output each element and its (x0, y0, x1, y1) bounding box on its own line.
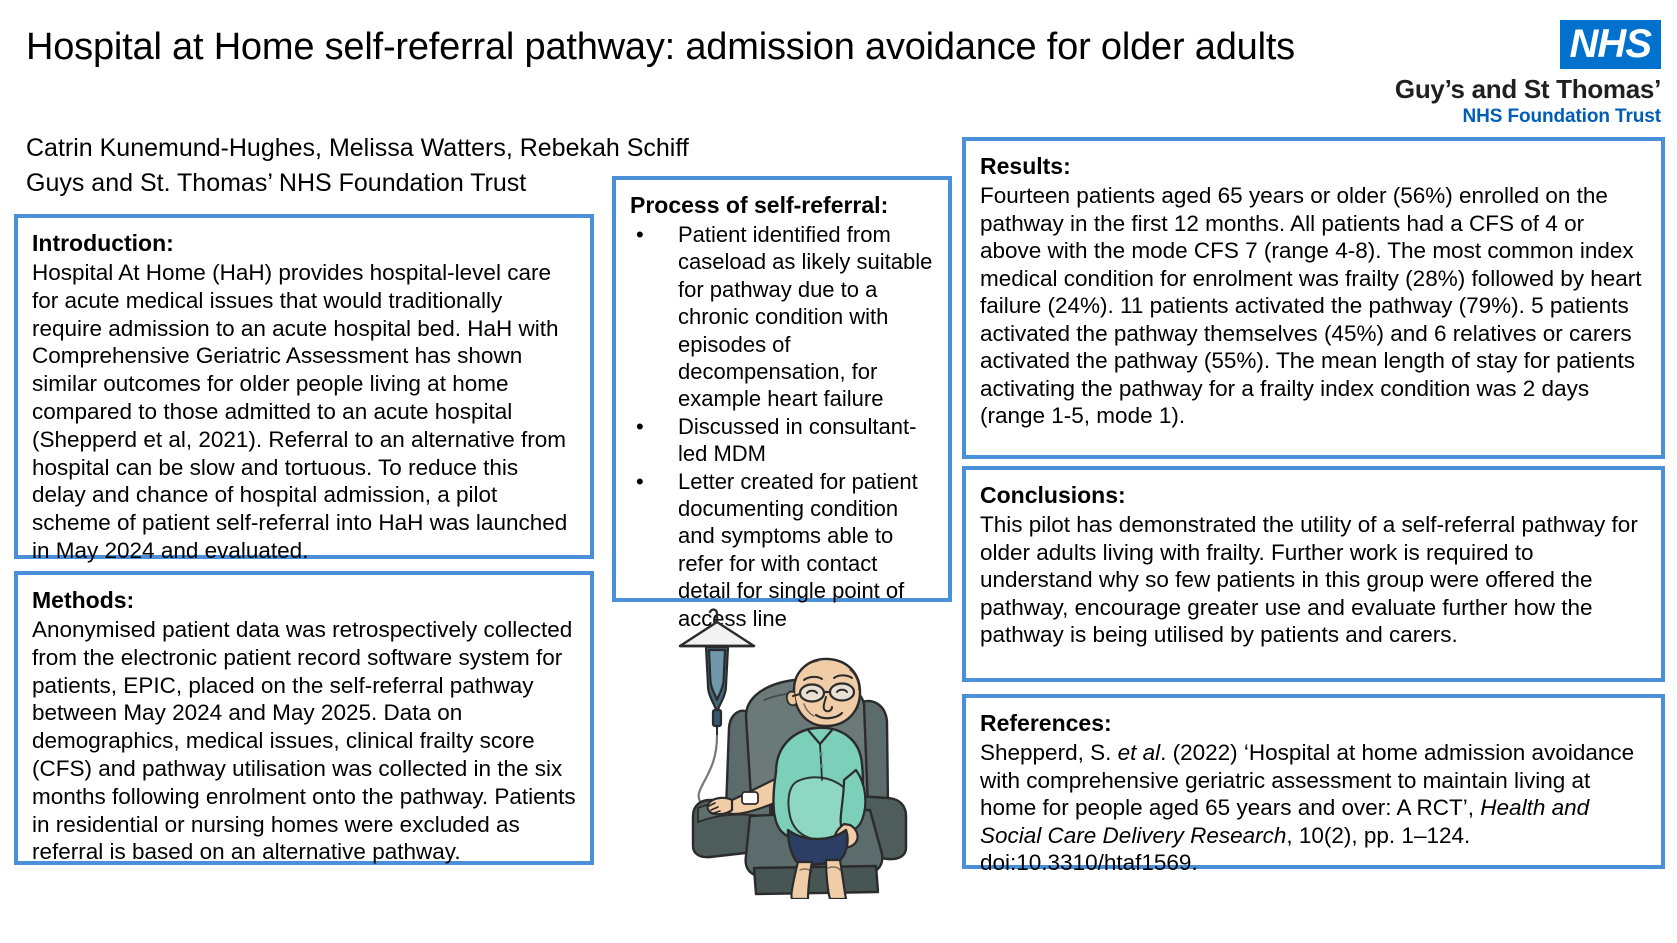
conclusions-heading: Conclusions: (980, 480, 1647, 510)
iv-drip-icon (706, 647, 728, 736)
chair-base (754, 866, 878, 894)
affiliation: Guys and St. Thomas’ NHS Foundation Trus… (26, 166, 526, 201)
process-body: Patient identified from caseload as like… (630, 221, 934, 632)
list-item: Discussed in consultant-led MDM (630, 413, 934, 468)
cannula-dressing (742, 792, 758, 804)
section-introduction: Introduction: Hospital At Home (HaH) pro… (14, 214, 594, 559)
author-list: Catrin Kunemund-Hughes, Melissa Watters,… (26, 131, 689, 166)
process-heading: Process of self-referral: (630, 190, 934, 220)
patient-in-armchair-illustration (660, 604, 960, 899)
conclusions-body: This pilot has demonstrated the utility … (980, 511, 1647, 649)
nhs-logo: NHS Guy’s and St Thomas’ NHS Foundation … (1341, 20, 1661, 129)
references-heading: References: (980, 708, 1647, 738)
nhs-badge-icon: NHS (1560, 20, 1661, 69)
results-body: Fourteen patients aged 65 years or older… (980, 182, 1647, 430)
references-body: Shepperd, S. et al. (2022) ‘Hospital at … (980, 739, 1647, 877)
patient-right-arm (841, 770, 866, 831)
methods-body: Anonymised patient data was retrospectiv… (32, 616, 576, 866)
section-results: Results: Fourteen patients aged 65 years… (962, 137, 1665, 459)
citation-etal: et al (1118, 740, 1161, 765)
nhs-trust-name: Guy’s and St Thomas’ (1341, 73, 1661, 105)
coat-hanger-icon (680, 610, 754, 646)
section-methods: Methods: Anonymised patient data was ret… (14, 571, 594, 865)
list-item: Patient identified from caseload as like… (630, 221, 934, 413)
nhs-trust-subtitle: NHS Foundation Trust (1341, 105, 1661, 129)
page-title: Hospital at Home self-referral pathway: … (26, 22, 1326, 72)
section-process-of-self-referral: Process of self-referral: Patient identi… (612, 176, 952, 602)
results-heading: Results: (980, 151, 1647, 181)
methods-heading: Methods: (32, 585, 576, 615)
introduction-heading: Introduction: (32, 228, 576, 258)
introduction-body: Hospital At Home (HaH) provides hospital… (32, 259, 576, 565)
poster-canvas: Hospital at Home self-referral pathway: … (0, 0, 1677, 943)
process-bullet-list: Patient identified from caseload as like… (630, 221, 934, 632)
section-conclusions: Conclusions: This pilot has demonstrated… (962, 466, 1665, 682)
section-references: References: Shepperd, S. et al. (2022) ‘… (962, 694, 1665, 869)
citation-text-1: Shepperd, S. (980, 740, 1118, 765)
